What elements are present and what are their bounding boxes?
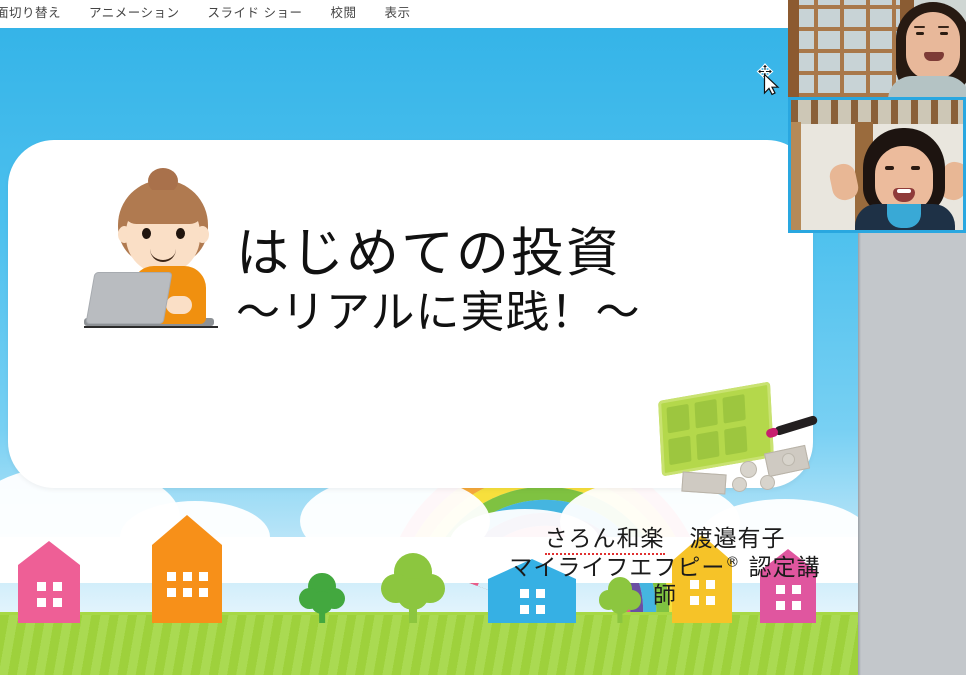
house-window <box>167 588 176 597</box>
house-body <box>152 545 222 623</box>
right-panel <box>858 233 966 675</box>
house-window <box>199 588 208 597</box>
move-cursor <box>752 62 786 96</box>
presenter-org: さろん和楽 <box>545 526 665 555</box>
presenter-name: 渡邉有子 <box>689 526 785 552</box>
credit-line-2: マイライフエフピー® 認定講師 <box>500 554 830 611</box>
tree-sprite <box>300 571 344 623</box>
house-roof <box>18 541 80 565</box>
house-window <box>37 582 46 591</box>
house-window <box>183 588 192 597</box>
tree-foliage <box>397 578 429 610</box>
tab-view[interactable]: 表示 <box>371 0 425 27</box>
house-window <box>53 598 62 607</box>
wallet-money-photo <box>646 387 818 495</box>
video-tile-1[interactable] <box>788 0 966 97</box>
tab-animations[interactable]: アニメーション <box>75 0 194 27</box>
house-body <box>18 565 80 623</box>
laptop-woman-illustration <box>90 166 235 336</box>
house-sprite <box>18 541 80 623</box>
panel-divider <box>858 233 861 675</box>
house-roof <box>152 515 222 545</box>
ribbon-tab-list: 面切り替え アニメーション スライド ショー 校閲 表示 <box>0 0 788 27</box>
credit-line-1: さろん和楽 渡邉有子 <box>500 525 830 554</box>
credential-brand: マイライフエフピー <box>509 555 725 581</box>
slide-content-card: はじめての投資 〜リアルに実践！〜 <box>8 140 813 488</box>
ribbon-bar: 面切り替え アニメーション スライド ショー 校閲 表示 <box>0 0 788 29</box>
house-window <box>53 582 62 591</box>
presenter-credits[interactable]: さろん和楽 渡邉有子 マイライフエフピー® 認定講師 <box>500 525 830 611</box>
house-window <box>167 572 176 581</box>
registered-mark-icon: ® <box>725 554 740 570</box>
house-sprite <box>152 515 222 623</box>
house-window <box>183 572 192 581</box>
house-window <box>37 598 46 607</box>
slide-title-main: はじめての投資 <box>236 226 796 281</box>
pointer-arrow-icon <box>765 75 779 95</box>
video-tile-2[interactable] <box>788 97 966 233</box>
tree-sprite <box>382 551 444 623</box>
screen-root: 面切り替え アニメーション スライド ショー 校閲 表示 <box>0 0 966 675</box>
tab-transitions[interactable]: 面切り替え <box>0 0 75 27</box>
grass-band <box>0 615 858 675</box>
slide-stage[interactable]: はじめての投資 〜リアルに実践！〜 <box>0 28 858 675</box>
slide-title-block[interactable]: はじめての投資 〜リアルに実践！〜 <box>236 226 796 338</box>
slide-title-sub: 〜リアルに実践！〜 <box>236 289 796 337</box>
tab-slideshow[interactable]: スライド ショー <box>194 0 317 27</box>
house-window <box>199 572 208 581</box>
tree-foliage <box>311 591 334 614</box>
tab-review[interactable]: 校閲 <box>317 0 371 27</box>
